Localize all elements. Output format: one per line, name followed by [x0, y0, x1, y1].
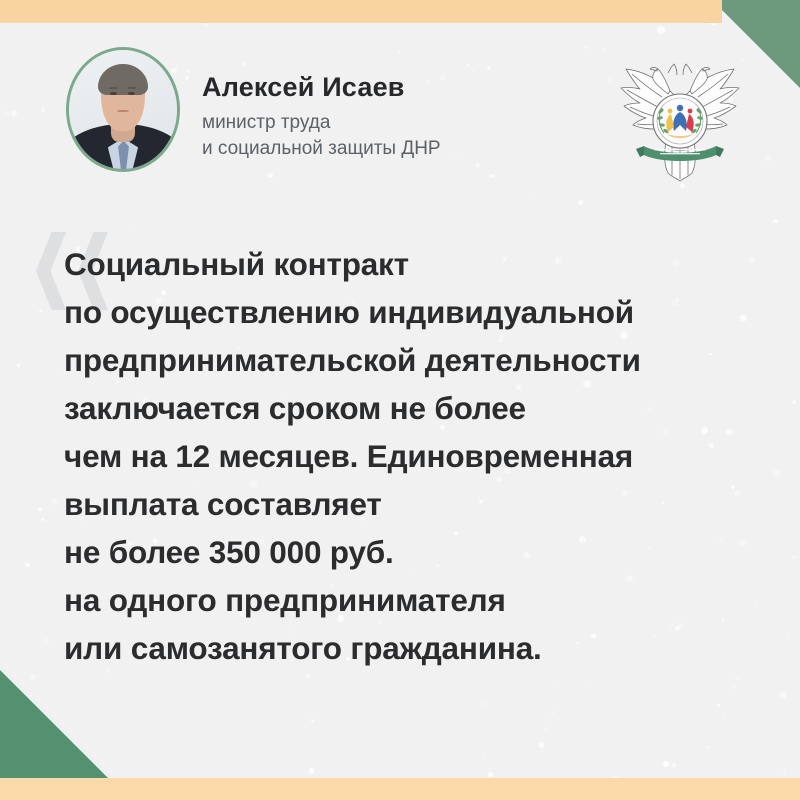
quote-line: или самозанятого гражданина.: [64, 624, 780, 672]
avatar: [66, 47, 180, 172]
avatar-eyebrow-right: [127, 87, 136, 89]
person-name: Алексей Исаев: [202, 72, 405, 103]
bottom-left-green-triangle: [0, 670, 108, 778]
dnr-ministry-emblem: [610, 45, 750, 185]
avatar-eyebrow-left: [109, 87, 118, 89]
quote-card: Алексей Исаев министр труда и социальной…: [0, 0, 800, 800]
quote-line: не более 350 000 руб.: [64, 528, 780, 576]
quote-chevron-left-icon: [36, 232, 66, 310]
avatar-mouth: [117, 110, 130, 113]
quote-text: Социальный контракт по осуществлению инд…: [64, 240, 780, 672]
quote-line: предпринимательской деятельности: [64, 336, 780, 384]
person-role: министр труда и социальной защиты ДНР: [202, 110, 441, 162]
avatar-eye-left: [110, 92, 116, 96]
person-role-line-2: и социальной защиты ДНР: [202, 136, 441, 162]
quote-line: чем на 12 месяцев. Единовременная: [64, 432, 780, 480]
bottom-accent-bar: [0, 778, 800, 800]
quote-line: выплата составляет: [64, 480, 780, 528]
quote-line: Социальный контракт: [64, 240, 780, 288]
quote-line: по осуществлению индивидуальной: [64, 288, 780, 336]
quote-line: на одного предпринимателя: [64, 576, 780, 624]
card-header: Алексей Исаев министр труда и социальной…: [0, 0, 800, 200]
quote-line: заключается сроком не более: [64, 384, 780, 432]
person-role-line-1: министр труда: [202, 110, 441, 136]
